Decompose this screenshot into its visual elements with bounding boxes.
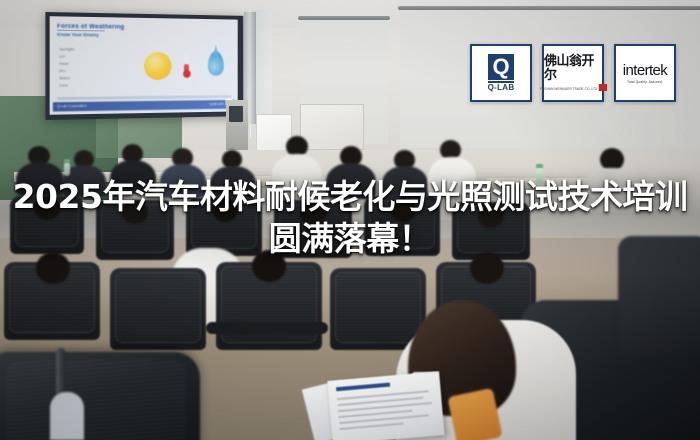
handout-heading [336,383,390,392]
intertek-tagline: Total Quality. Assured. [627,80,663,84]
slide-bullet-3: RH [59,67,74,74]
slide-bullet-4: Water [59,74,74,81]
q-lab-mark-icon: Q [488,54,514,80]
foshan-subtitle-text: FOSHAN WENKAIER TRADE CO.,LTD [540,87,598,91]
water-drop-icon [208,51,224,75]
foreground-chair-left [0,352,200,440]
intertek-wordmark: intertek [623,63,667,78]
blind-rail-right [398,6,700,10]
office-chair [110,268,206,350]
thermometer-icon [184,51,189,75]
slide-bullet-2: Heat [59,60,74,67]
red-seal-icon [598,84,606,91]
wall-board [300,104,364,150]
foshan-subtitle: FOSHAN WENKAIER TRADE CO.,LTD [540,84,607,91]
intertek-logo: intertek Total Quality. Assured. [614,44,676,102]
foshan-wengkaier-logo: 佛山翁开尔 FOSHAN WENKAIER TRADE CO.,LTD [542,44,604,102]
sun-icon [144,52,171,80]
foreground-person-left [50,392,84,440]
banner-title-line-2: 圆满落幕！ [0,218,700,260]
slide-subtitle: Know Your Enemy [57,32,99,38]
slide-footer-right: q-lab.com [210,102,224,106]
slide-bullet-1: UV [59,53,74,60]
banner-title-line-1: 2025年汽车材料耐候老化与光照测试技术培训 [0,176,700,218]
banner-title: 2025年汽车材料耐候老化与光照测试技术培训 圆满落幕！ [0,176,700,260]
handout-line [340,423,404,431]
training-handout [327,371,444,440]
q-lab-letter: Q [492,56,509,78]
chair-mesh [115,272,201,343]
slide-bullets: Sunlight UV Heat RH Water Dew [59,45,74,88]
slide-bullet-5: Dew [59,81,74,88]
slide-footer-bar: Q-Lab Corporation q-lab.com [53,100,235,112]
chair-armrest [206,322,328,334]
chair-mesh [335,272,421,343]
projector-screen: Forces of Weathering Know Your Enemy Sun… [45,12,243,120]
slide-bullet-0: Sunlight [59,45,74,52]
podium-monitor [229,106,243,122]
logo-lockup: Q Q-LAB 佛山翁开尔 FOSHAN WENKAIER TRADE CO.,… [470,44,676,102]
projected-slide: Forces of Weathering Know Your Enemy Sun… [50,16,238,115]
q-lab-wordmark: Q-LAB [488,81,515,92]
foshan-wordmark-cn: 佛山翁开尔 [544,55,602,83]
bottle-cap [64,159,70,163]
banner-image: Forces of Weathering Know Your Enemy Sun… [0,0,700,440]
slide-footer-left: Q-Lab Corporation [57,104,86,109]
blind-rail-left [298,16,390,20]
q-lab-logo: Q Q-LAB [470,44,532,102]
